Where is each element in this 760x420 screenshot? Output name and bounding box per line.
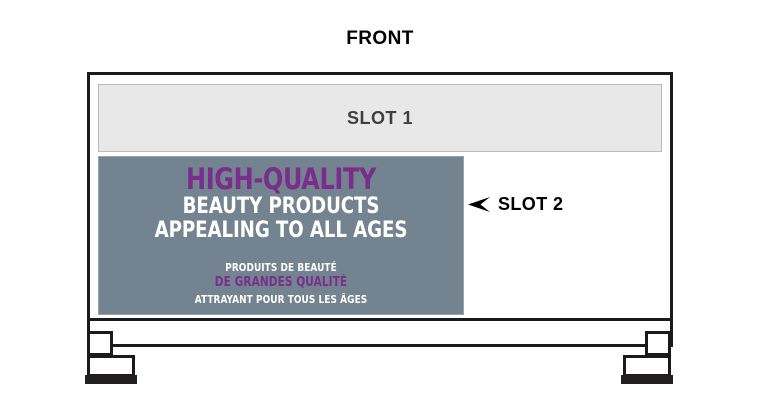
poster-french-text: PRODUITS DE BEAUTÉ DE GRANDES QUALITÉ AT…	[99, 260, 463, 307]
leg-right-lower	[623, 355, 671, 377]
arrow-left-icon	[468, 197, 490, 212]
slot-1-label: SLOT 1	[99, 85, 661, 151]
poster-subline1-en: BEAUTY PRODUCTS	[114, 195, 449, 220]
poster-subline1-fr: PRODUITS DE BEAUTÉ	[117, 260, 445, 275]
poster-headline-en: HIGH-QUALITY	[114, 165, 449, 195]
leg-right-upper	[645, 331, 671, 356]
poster-subline2-en: APPEALING TO ALL AGES	[114, 219, 449, 244]
page-title: FRONT	[0, 28, 760, 50]
slot-2-poster[interactable]: HIGH-QUALITY BEAUTY PRODUCTS APPEALING T…	[98, 156, 464, 315]
poster-english-text: HIGH-QUALITY BEAUTY PRODUCTS APPEALING T…	[99, 165, 463, 244]
poster-subline2-fr: ATTRAYANT POUR TOUS LES ÂGES	[117, 292, 445, 307]
slot-1-panel[interactable]: SLOT 1	[98, 84, 662, 152]
plinth-bottom-edge	[88, 344, 672, 347]
leg-right-foot	[621, 375, 673, 384]
leg-left-foot	[85, 375, 137, 384]
slot-2-label: SLOT 2	[498, 194, 563, 215]
leg-left-upper	[87, 331, 113, 356]
diagram-canvas: FRONT SLOT 1 HIGH-QUALITY BEAUTY PRODUCT…	[0, 0, 760, 420]
poster-headline-fr: DE GRANDES QUALITÉ	[117, 275, 445, 292]
slot-2-callout: SLOT 2	[468, 194, 563, 215]
plinth-top-edge	[88, 318, 672, 321]
leg-left-lower	[87, 355, 135, 377]
